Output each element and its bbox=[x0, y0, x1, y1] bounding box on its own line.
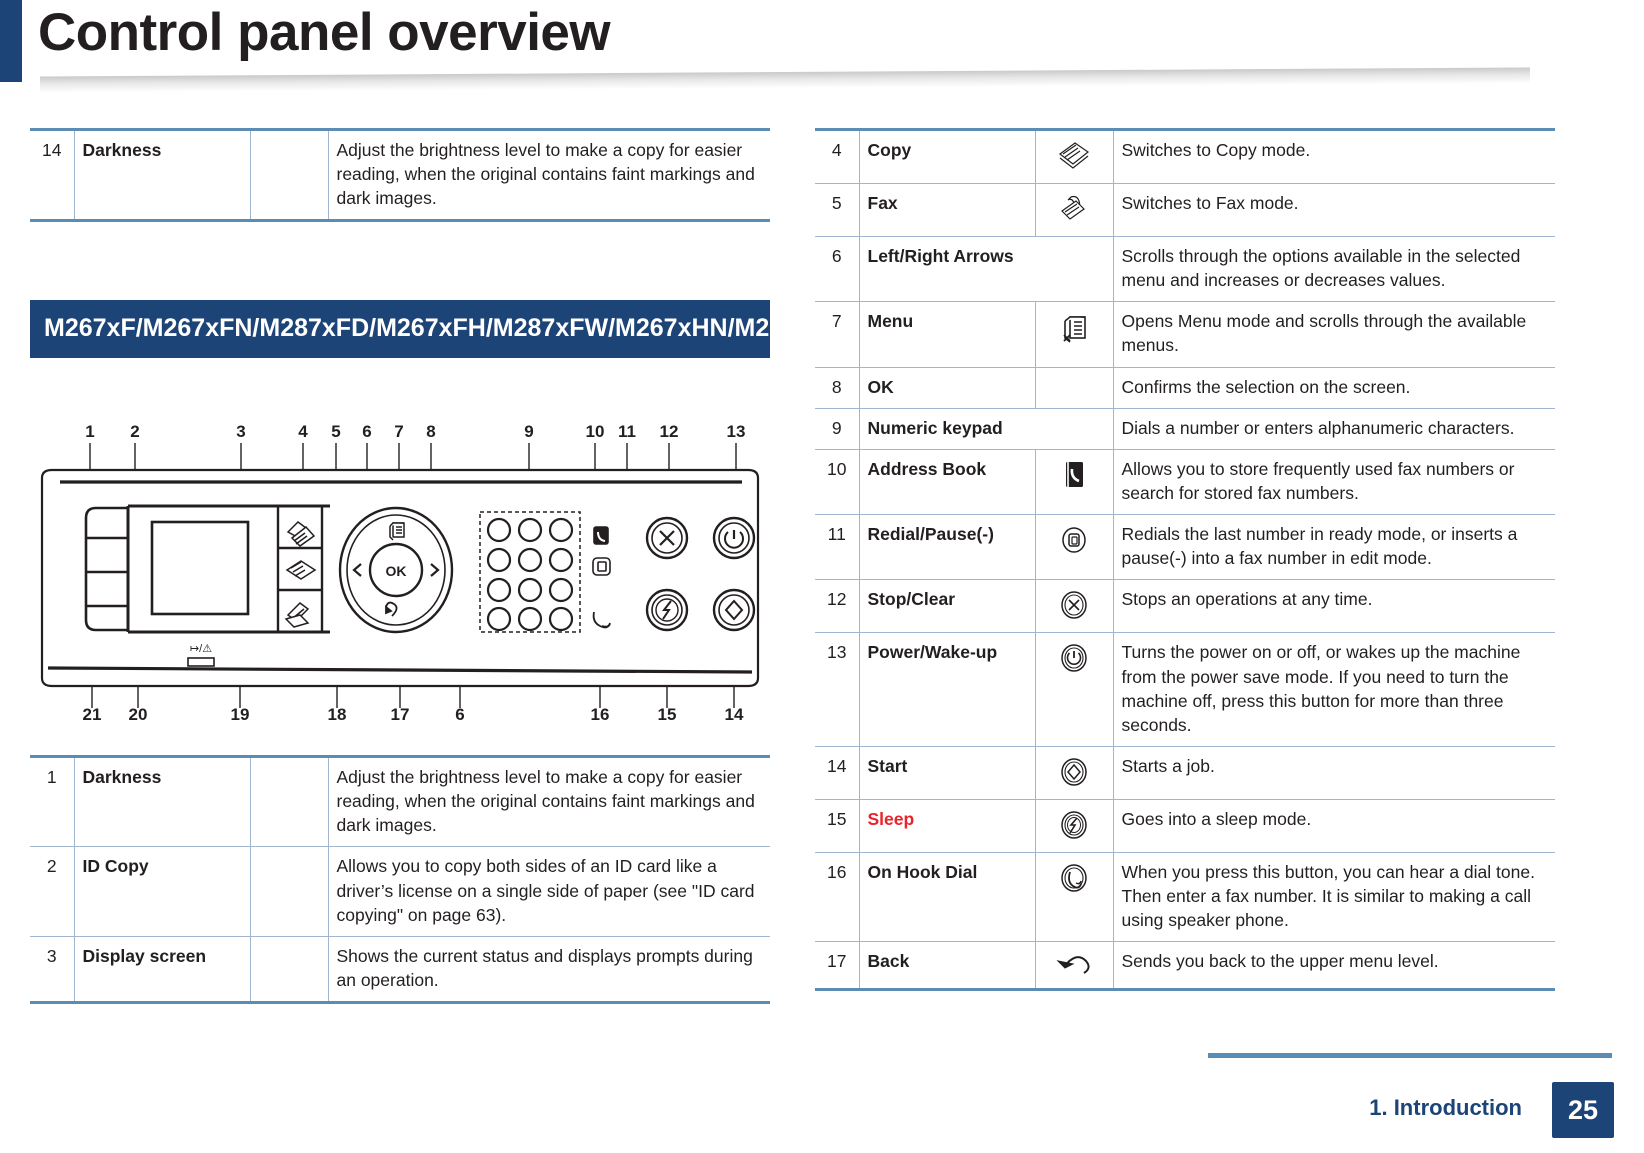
row-label: Power/Wake-up bbox=[859, 633, 1035, 747]
row-label: Back bbox=[859, 942, 1035, 990]
start-button bbox=[714, 590, 754, 630]
row-label: Numeric keypad bbox=[859, 408, 1113, 449]
row-description: Opens Menu mode and scrolls through the … bbox=[1113, 302, 1555, 367]
row-description: Allows you to store frequently used fax … bbox=[1113, 449, 1555, 514]
row-description: Sends you back to the upper menu level. bbox=[1113, 942, 1555, 990]
row-label: OK bbox=[859, 367, 1035, 408]
table-row: 9Numeric keypadDials a number or enters … bbox=[815, 408, 1555, 449]
row-number: 17 bbox=[815, 942, 859, 990]
row-number: 10 bbox=[815, 449, 859, 514]
table-row: 10Address BookAllows you to store freque… bbox=[815, 449, 1555, 514]
left-column: 14DarknessAdjust the brightness level to… bbox=[30, 128, 770, 222]
table-row: 14DarknessAdjust the brightness level to… bbox=[30, 130, 770, 221]
power-icon bbox=[1035, 633, 1113, 747]
row-number: 3 bbox=[30, 936, 74, 1002]
callout-number-top: 13 bbox=[727, 422, 746, 441]
row-number: 5 bbox=[815, 184, 859, 237]
footer-page-number: 25 bbox=[1552, 1082, 1614, 1138]
row-number: 14 bbox=[30, 130, 74, 221]
power-wakeup-button bbox=[714, 518, 754, 558]
row-label: Darkness bbox=[74, 757, 250, 847]
row-icon-empty bbox=[250, 847, 328, 936]
callout-number-top: 11 bbox=[618, 422, 636, 441]
row-label: Display screen bbox=[74, 936, 250, 1002]
left-spec-table-wrap: 1DarknessAdjust the brightness level to … bbox=[30, 755, 770, 1004]
callout-number-top: 10 bbox=[586, 422, 605, 441]
table-row: 6Left/Right ArrowsScrolls through the op… bbox=[815, 237, 1555, 302]
fax-icon bbox=[1035, 184, 1113, 237]
callout-number-top: 12 bbox=[660, 422, 679, 441]
row-number: 2 bbox=[30, 847, 74, 936]
right-column: 4CopySwitches to Copy mode.5FaxSwitches … bbox=[815, 128, 1555, 991]
address-book-icon bbox=[1035, 449, 1113, 514]
table-row: 13Power/Wake-upTurns the power on or off… bbox=[815, 633, 1555, 747]
model-section-heading: M267xF/M267xFN/M287xFD/M267xFH/M287xFW/M… bbox=[30, 300, 770, 358]
row-number: 14 bbox=[815, 746, 859, 799]
sleep-icon bbox=[1035, 799, 1113, 852]
row-number: 16 bbox=[815, 852, 859, 941]
on-hook-dial-icon bbox=[1035, 852, 1113, 941]
row-number: 6 bbox=[815, 237, 859, 302]
row-description: Confirms the selection on the screen. bbox=[1113, 367, 1555, 408]
menu-icon bbox=[1035, 302, 1113, 367]
callout-number-top: 7 bbox=[394, 422, 403, 441]
row-icon-empty bbox=[250, 130, 328, 221]
row-label: Copy bbox=[859, 130, 1035, 184]
top-spec-table: 14DarknessAdjust the brightness level to… bbox=[30, 128, 770, 222]
left-spec-table: 1DarknessAdjust the brightness level to … bbox=[30, 755, 770, 1004]
row-description: Starts a job. bbox=[1113, 746, 1555, 799]
row-icon-empty bbox=[250, 936, 328, 1002]
callout-number-top: 4 bbox=[298, 422, 308, 441]
row-icon-empty bbox=[250, 757, 328, 847]
row-label: Darkness bbox=[74, 130, 250, 221]
row-label: Stop/Clear bbox=[859, 580, 1035, 633]
table-row: 5FaxSwitches to Fax mode. bbox=[815, 184, 1555, 237]
row-description: Adjust the brightness level to make a co… bbox=[328, 757, 770, 847]
table-row: 16On Hook DialWhen you press this button… bbox=[815, 852, 1555, 941]
start-icon bbox=[1035, 746, 1113, 799]
table-row: 1DarknessAdjust the brightness level to … bbox=[30, 757, 770, 847]
row-label: Sleep bbox=[859, 799, 1035, 852]
row-label: Start bbox=[859, 746, 1035, 799]
table-row: 14StartStarts a job. bbox=[815, 746, 1555, 799]
row-description: Goes into a sleep mode. bbox=[1113, 799, 1555, 852]
row-description: Scrolls through the options available in… bbox=[1113, 237, 1555, 302]
row-description: Adjust the brightness level to make a co… bbox=[328, 130, 770, 221]
row-description: Stops an operations at any time. bbox=[1113, 580, 1555, 633]
row-number: 12 bbox=[815, 580, 859, 633]
row-icon-empty bbox=[1035, 367, 1113, 408]
redial-icon bbox=[1035, 515, 1113, 580]
row-description: Redials the last number in ready mode, o… bbox=[1113, 515, 1555, 580]
callout-number-top: 1 bbox=[85, 422, 94, 441]
row-description: Dials a number or enters alphanumeric ch… bbox=[1113, 408, 1555, 449]
callout-number-top: 3 bbox=[236, 422, 245, 441]
row-description: Switches to Copy mode. bbox=[1113, 130, 1555, 184]
callout-number-top: 8 bbox=[426, 422, 435, 441]
row-number: 7 bbox=[815, 302, 859, 367]
back-icon bbox=[1035, 942, 1113, 990]
footer-chapter-label: 1. Introduction bbox=[1369, 1095, 1522, 1121]
table-row: 7MenuOpens Menu mode and scrolls through… bbox=[815, 302, 1555, 367]
row-description: Shows the current status and displays pr… bbox=[328, 936, 770, 1002]
right-spec-table: 4CopySwitches to Copy mode.5FaxSwitches … bbox=[815, 128, 1555, 991]
table-row: 17BackSends you back to the upper menu l… bbox=[815, 942, 1555, 990]
table-row: 4CopySwitches to Copy mode. bbox=[815, 130, 1555, 184]
row-description: Turns the power on or off, or wakes up t… bbox=[1113, 633, 1555, 747]
callout-number-top: 2 bbox=[130, 422, 139, 441]
row-number: 11 bbox=[815, 515, 859, 580]
row-description: Allows you to copy both sides of an ID c… bbox=[328, 847, 770, 936]
page-title: Control panel overview bbox=[38, 2, 610, 63]
row-number: 9 bbox=[815, 408, 859, 449]
callout-number-top: 6 bbox=[362, 422, 371, 441]
header-accent-bar bbox=[0, 0, 22, 82]
ok-button-label: OK bbox=[386, 563, 407, 579]
table-row: 8OKConfirms the selection on the screen. bbox=[815, 367, 1555, 408]
row-label: Left/Right Arrows bbox=[859, 237, 1113, 302]
display-screen bbox=[152, 522, 248, 614]
row-description: Switches to Fax mode. bbox=[1113, 184, 1555, 237]
row-label: Address Book bbox=[859, 449, 1035, 514]
row-number: 1 bbox=[30, 757, 74, 847]
table-row: 3Display screenShows the current status … bbox=[30, 936, 770, 1002]
page-header: Control panel overview bbox=[0, 0, 1644, 82]
manual-page: Control panel overview 14DarknessAdjust … bbox=[0, 0, 1644, 1153]
callout-number-top: 5 bbox=[331, 422, 340, 441]
row-label: Menu bbox=[859, 302, 1035, 367]
row-number: 15 bbox=[815, 799, 859, 852]
row-label: Fax bbox=[859, 184, 1035, 237]
status-led-label: ↦/⚠ bbox=[190, 643, 212, 655]
row-description: When you press this button, you can hear… bbox=[1113, 852, 1555, 941]
row-label: On Hook Dial bbox=[859, 852, 1035, 941]
row-label: ID Copy bbox=[74, 847, 250, 936]
copy-icon bbox=[1035, 130, 1113, 184]
table-row: 2ID CopyAllows you to copy both sides of… bbox=[30, 847, 770, 936]
row-number: 13 bbox=[815, 633, 859, 747]
row-number: 4 bbox=[815, 130, 859, 184]
row-label: Redial/Pause(-) bbox=[859, 515, 1035, 580]
sleep-button bbox=[647, 590, 687, 630]
table-row: 12Stop/ClearStops an operations at any t… bbox=[815, 580, 1555, 633]
table-row: 15SleepGoes into a sleep mode. bbox=[815, 799, 1555, 852]
header-shadow-rule bbox=[40, 67, 1530, 92]
stop-clear-button bbox=[647, 518, 687, 558]
address-book-icon bbox=[594, 527, 608, 544]
table-row: 11Redial/Pause(-)Redials the last number… bbox=[815, 515, 1555, 580]
stop-clear-icon bbox=[1035, 580, 1113, 633]
control-panel-figure: 12345678910111213 21201918176161514 bbox=[30, 420, 770, 725]
row-number: 8 bbox=[815, 367, 859, 408]
footer-rule bbox=[1208, 1053, 1612, 1058]
callout-number-top: 9 bbox=[524, 422, 533, 441]
